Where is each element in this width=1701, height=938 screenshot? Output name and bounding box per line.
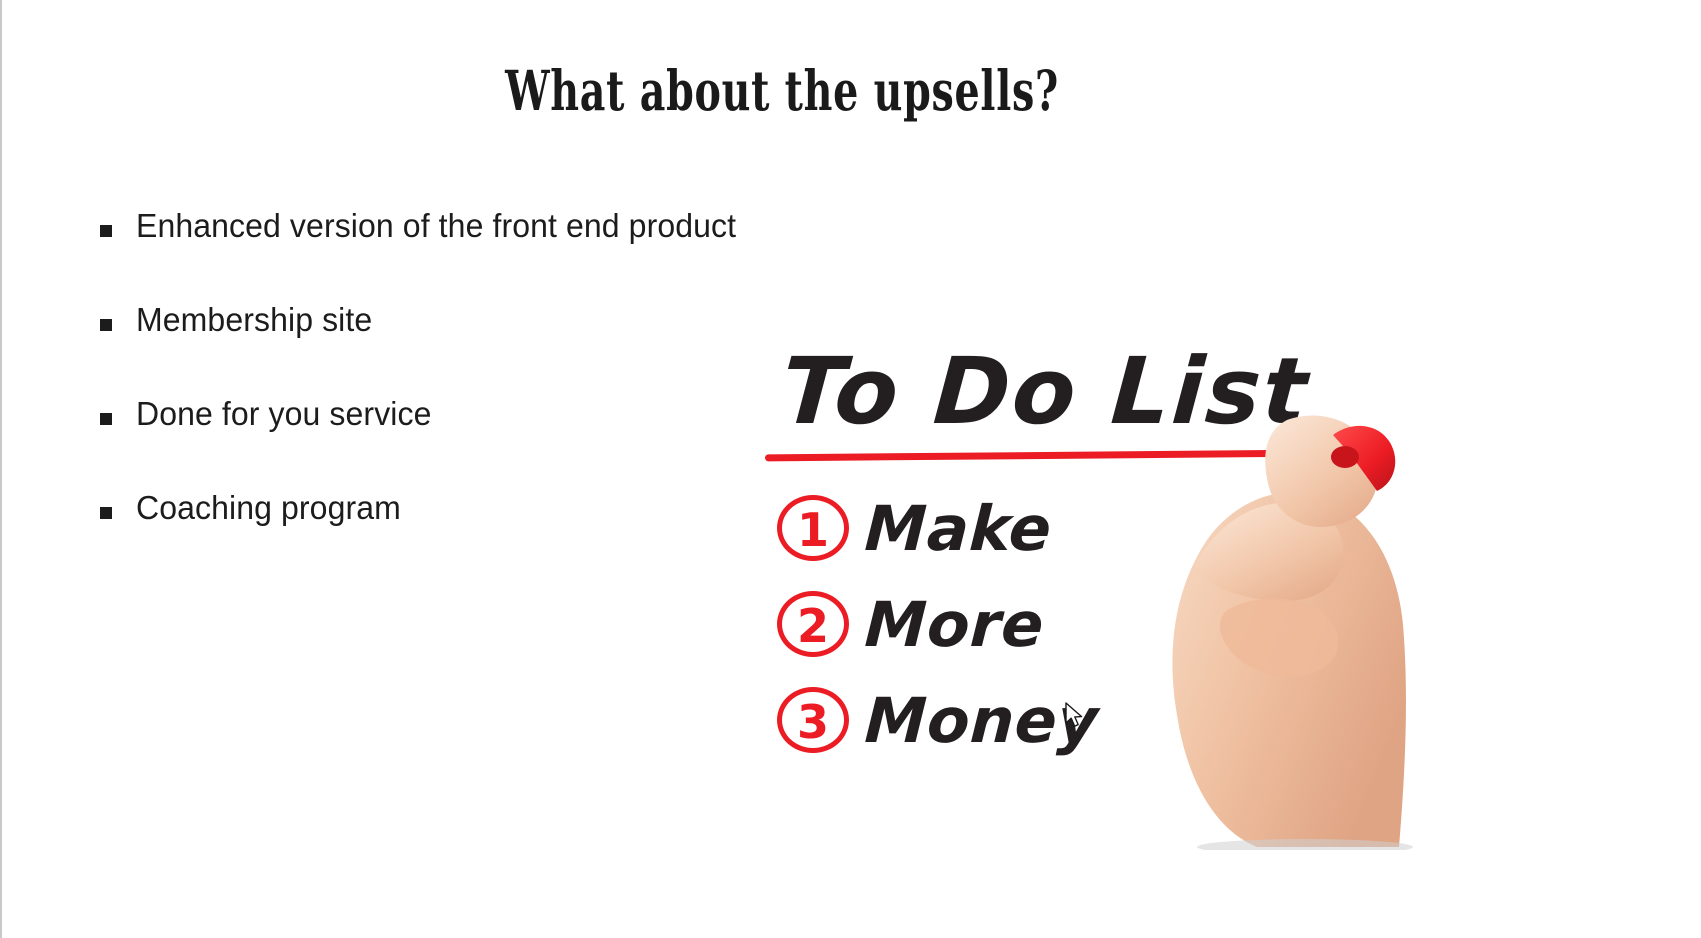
circled-number-icon: 3 — [777, 687, 849, 753]
list-item-label: Enhanced version of the front end produc… — [136, 208, 736, 245]
todo-row: 3 Money — [777, 672, 1197, 768]
todo-row: 1 Make — [777, 480, 1197, 576]
todo-list-illustration: To Do List 1 Make 2 More 3 Money — [757, 320, 1417, 850]
presentation-slide: What about the upsells? Enhanced version… — [0, 0, 1701, 938]
square-bullet-icon — [100, 413, 112, 425]
page-title: What about the upsells? — [220, 62, 1343, 120]
todo-list-heading: To Do List — [778, 338, 1312, 445]
square-bullet-icon — [100, 225, 112, 237]
list-item: Enhanced version of the front end produc… — [100, 208, 900, 302]
square-bullet-icon — [100, 507, 112, 519]
todo-row-label: More — [863, 588, 1046, 661]
todo-list-rows: 1 Make 2 More 3 Money — [777, 480, 1197, 768]
todo-row-label: Money — [863, 684, 1100, 757]
square-bullet-icon — [100, 319, 112, 331]
list-item-label: Coaching program — [136, 490, 401, 527]
todo-row-label: Make — [863, 492, 1053, 565]
todo-row: 2 More — [777, 576, 1197, 672]
red-underline-stroke — [765, 450, 1313, 462]
circled-number-icon: 2 — [777, 591, 849, 657]
circled-number-icon: 1 — [777, 495, 849, 561]
list-item-label: Done for you service — [136, 396, 432, 433]
list-item-label: Membership site — [136, 302, 372, 339]
